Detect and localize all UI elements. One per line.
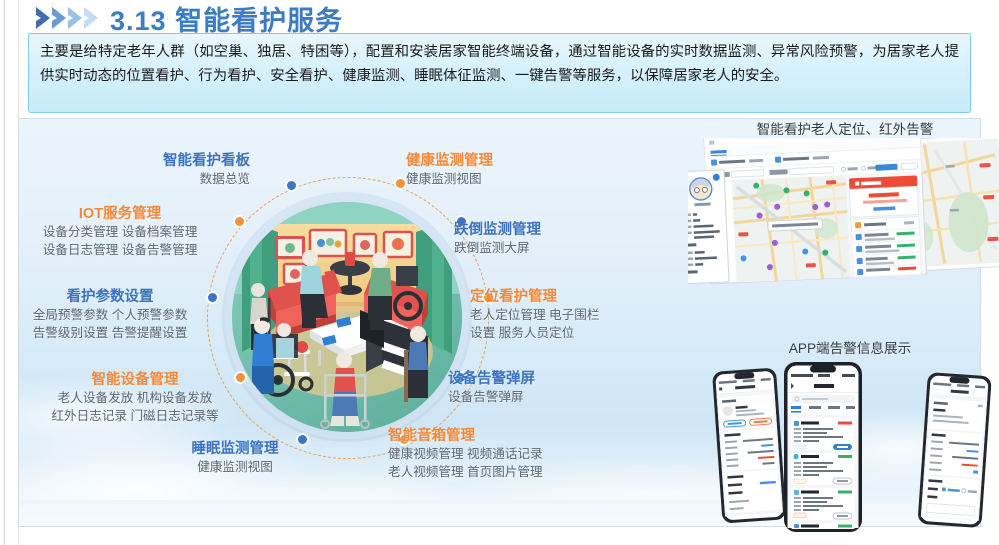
label-left-0-line-0: 数据总览: [0, 171, 250, 189]
label-left-0: 智能看护看板 数据总览: [0, 152, 250, 189]
label-right-1: 跌倒监测管理 跌倒监测大屏: [454, 221, 541, 258]
label-right-0: 健康监测管理 健康监测视图: [406, 152, 493, 189]
node-dot-10: [396, 179, 405, 188]
label-left-1-line-0: 设备分类管理 设备档案管理: [20, 224, 220, 242]
label-left-4-heading: 睡眠监测管理: [135, 440, 335, 459]
label-left-3-heading: 智能设备管理: [35, 371, 235, 390]
node-dot-1: [287, 181, 296, 190]
label-left-2: 看护参数设置 全局预警参数 个人预警参数 告警级别设置 告警提醒设置: [10, 288, 210, 342]
description-box: 主要是给特定老年人群（如空巢、独居、特困等），配置和安装居家智能终端设备，通过智…: [28, 33, 971, 113]
slide-root: 3.13 智能看护服务 主要是给特定老年人群（如空巢、独居、特困等），配置和安装…: [0, 0, 999, 545]
label-left-3: 智能设备管理 老人设备发放 机构设备发放 红外日志记录 门磁日志记录等: [35, 371, 235, 425]
description-text: 主要是给特定老年人群（如空巢、独居、特困等），配置和安装居家智能终端设备，通过智…: [40, 41, 959, 88]
label-left-0-heading: 智能看护看板: [0, 152, 250, 171]
label-left-1: IOT服务管理 设备分类管理 设备档案管理 设备日志管理 设备告警管理: [20, 205, 220, 259]
label-right-2-line-1: 设置 服务人员定位: [470, 325, 599, 343]
label-right-4-line-0: 健康视频管理 视频通话记录: [388, 446, 543, 464]
slide-left-border: [4, 0, 5, 545]
label-left-3-line-1: 红外日志记录 门磁日志记录等: [35, 408, 235, 426]
label-right-0-heading: 健康监测管理: [406, 152, 493, 171]
caption-bottom: APP端告警信息展示: [700, 337, 999, 357]
label-left-2-line-0: 全局预警参数 个人预警参数: [10, 307, 210, 325]
label-right-3-line-0: 设备告警弹屏: [448, 389, 535, 407]
label-right-4-line-1: 老人视频管理 首页图片管理: [388, 464, 543, 482]
label-left-4-line-0: 健康监测视图: [135, 459, 335, 477]
label-left-4: 睡眠监测管理 健康监测视图: [135, 440, 335, 477]
label-left-2-heading: 看护参数设置: [10, 288, 210, 307]
node-dot-4: [236, 373, 245, 382]
center-illustration: [232, 202, 462, 432]
label-right-1-line-0: 跌倒监测大屏: [454, 240, 541, 258]
label-right-0-line-0: 健康监测视图: [406, 171, 493, 189]
label-right-3-heading: 设备告警弹屏: [448, 370, 535, 389]
label-right-2-heading: 定位看护管理: [470, 288, 599, 307]
label-left-2-line-1: 告警级别设置 告警提醒设置: [10, 325, 210, 343]
label-right-3: 设备告警弹屏 设备告警弹屏: [448, 370, 535, 407]
caption-top: 智能看护老人定位、红外告警: [695, 118, 995, 138]
screenshot-map-dashboard: [688, 138, 999, 328]
page-title-number: 3.13: [110, 6, 167, 36]
label-right-1-heading: 跌倒监测管理: [454, 221, 541, 240]
screenshot-mobile-apps: [700, 362, 999, 534]
chevron-arrows-icon: [34, 4, 104, 32]
label-right-4-heading: 智能音箱管理: [388, 427, 543, 446]
label-right-4: 智能音箱管理 健康视频管理 视频通话记录 老人视频管理 首页图片管理: [388, 427, 543, 481]
label-left-1-heading: IOT服务管理: [20, 205, 220, 224]
node-dot-2: [235, 217, 244, 226]
label-left-3-line-0: 老人设备发放 机构设备发放: [35, 390, 235, 408]
label-right-2-line-0: 老人定位管理 电子围栏: [470, 307, 599, 325]
label-right-2: 定位看护管理 老人定位管理 电子围栏 设置 服务人员定位: [470, 288, 599, 342]
page-title-text: 智能看护服务: [175, 6, 343, 36]
label-left-1-line-1: 设备日志管理 设备告警管理: [20, 242, 220, 260]
